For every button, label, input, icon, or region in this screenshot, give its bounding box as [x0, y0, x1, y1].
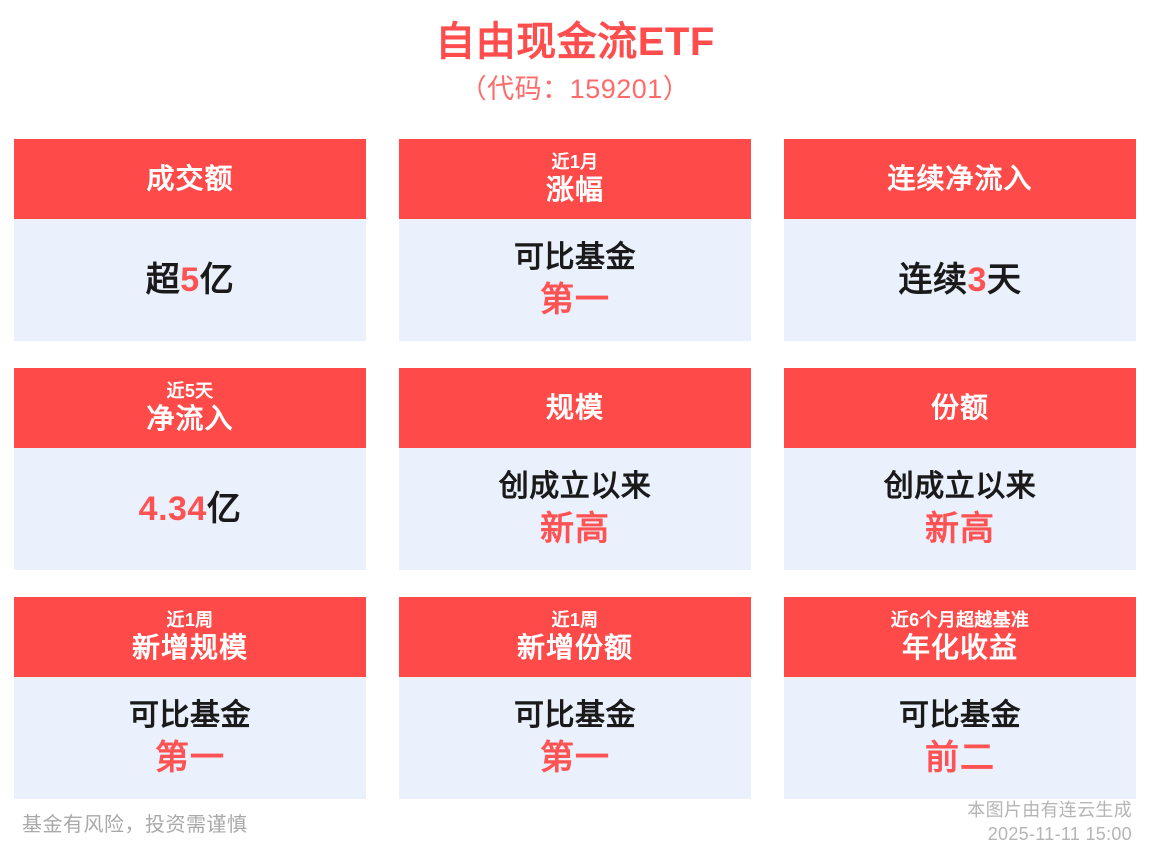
page-title: 自由现金流ETF	[0, 16, 1150, 68]
metric-card: 连续净流入连续3天	[784, 139, 1136, 341]
metric-card: 近6个月超越基准年化收益可比基金前二	[784, 597, 1136, 799]
metric-card-header: 近6个月超越基准年化收益	[784, 597, 1136, 677]
metric-card: 近5天净流入4.34亿	[14, 368, 366, 570]
metric-card-value-secondary: 前二	[925, 736, 995, 780]
metric-card-body: 创成立以来新高	[399, 448, 751, 570]
metric-card-title: 连续净流入	[887, 161, 1032, 197]
metric-value-prefix: 超	[146, 261, 181, 299]
metric-card-value-primary: 创成立以来	[499, 467, 652, 507]
metric-card-body: 4.34亿	[14, 448, 366, 570]
metric-value-prefix: 创成立以来	[499, 470, 652, 503]
metric-card-title: 新增规模	[132, 631, 248, 665]
metric-card-eyebrow: 近1月	[552, 151, 599, 173]
metric-value-prefix: 可比基金	[514, 241, 636, 274]
metric-card: 规模创成立以来新高	[399, 368, 751, 570]
metric-card-value-primary: 可比基金	[514, 696, 636, 736]
metric-value-prefix: 可比基金	[899, 699, 1021, 732]
metric-card-header: 近1周新增规模	[14, 597, 366, 677]
metric-card-value-primary: 连续3天	[899, 257, 1022, 303]
metric-card-header: 规模	[399, 368, 751, 448]
image-source-block: 本图片由有连云生成 2025-11-11 15:00	[967, 798, 1132, 846]
metric-card-eyebrow: 近5天	[167, 380, 214, 402]
page-title-block: 自由现金流ETF （代码：159201）	[0, 0, 1150, 108]
metric-card-value-secondary: 新高	[925, 507, 995, 551]
metric-card-value-primary: 创成立以来	[884, 467, 1037, 507]
metric-card-eyebrow: 近6个月超越基准	[891, 609, 1029, 631]
metric-card: 近1周新增规模可比基金第一	[14, 597, 366, 799]
image-source-label: 本图片由有连云生成	[967, 798, 1132, 822]
metric-card-header: 成交额	[14, 139, 366, 219]
metric-card-value-primary: 4.34亿	[139, 486, 242, 532]
metric-card-body: 可比基金第一	[399, 219, 751, 341]
metric-card-value-primary: 可比基金	[899, 696, 1021, 736]
metric-value-prefix: 可比基金	[514, 699, 636, 732]
image-timestamp: 2025-11-11 15:00	[967, 822, 1132, 846]
metric-value-suffix: 亿	[200, 261, 235, 299]
metric-value-highlight: 3	[968, 261, 987, 299]
risk-disclaimer: 基金有风险，投资需谨慎	[22, 812, 248, 838]
metric-card-body: 超5亿	[14, 219, 366, 341]
metric-value-prefix: 连续	[899, 261, 968, 299]
metric-card-value-secondary: 第一	[540, 736, 610, 780]
metric-card-value-secondary: 第一	[540, 278, 610, 322]
metric-card-title: 份额	[931, 390, 989, 426]
metric-card-grid: 成交额超5亿近1月涨幅可比基金第一连续净流入连续3天近5天净流入4.34亿规模创…	[14, 139, 1136, 799]
metric-card-eyebrow: 近1周	[552, 609, 599, 631]
metric-value-suffix: 天	[987, 261, 1022, 299]
metric-card-header: 连续净流入	[784, 139, 1136, 219]
metric-card-value-primary: 超5亿	[146, 257, 234, 303]
metric-card-value-secondary: 新高	[540, 507, 610, 551]
metric-card-title: 规模	[546, 390, 604, 426]
metric-card-title: 新增份额	[517, 631, 633, 665]
metric-card-header: 近1周新增份额	[399, 597, 751, 677]
metric-value-highlight: 5	[180, 261, 199, 299]
metric-card: 近1周新增份额可比基金第一	[399, 597, 751, 799]
metric-card-body: 可比基金第一	[14, 677, 366, 799]
metric-card-body: 创成立以来新高	[784, 448, 1136, 570]
metric-card-value-primary: 可比基金	[129, 696, 251, 736]
metric-card: 成交额超5亿	[14, 139, 366, 341]
metric-card-header: 份额	[784, 368, 1136, 448]
metric-card-title: 年化收益	[902, 631, 1018, 665]
metric-card-body: 连续3天	[784, 219, 1136, 341]
metric-card-header: 近5天净流入	[14, 368, 366, 448]
metric-card: 近1月涨幅可比基金第一	[399, 139, 751, 341]
metric-card-value-primary: 可比基金	[514, 238, 636, 278]
metric-card-body: 可比基金第一	[399, 677, 751, 799]
metric-card-title: 净流入	[146, 402, 233, 436]
metric-value-suffix: 亿	[207, 490, 242, 528]
metric-card-body: 可比基金前二	[784, 677, 1136, 799]
metric-value-highlight: 4.34	[139, 490, 207, 528]
metric-card-title: 涨幅	[546, 173, 604, 207]
metric-card-eyebrow: 近1周	[167, 609, 214, 631]
metric-card: 份额创成立以来新高	[784, 368, 1136, 570]
metric-card-value-secondary: 第一	[155, 736, 225, 780]
page-subtitle-code: （代码：159201）	[0, 70, 1150, 108]
metric-value-prefix: 创成立以来	[884, 470, 1037, 503]
metric-value-prefix: 可比基金	[129, 699, 251, 732]
metric-card-header: 近1月涨幅	[399, 139, 751, 219]
metric-card-title: 成交额	[146, 161, 233, 197]
